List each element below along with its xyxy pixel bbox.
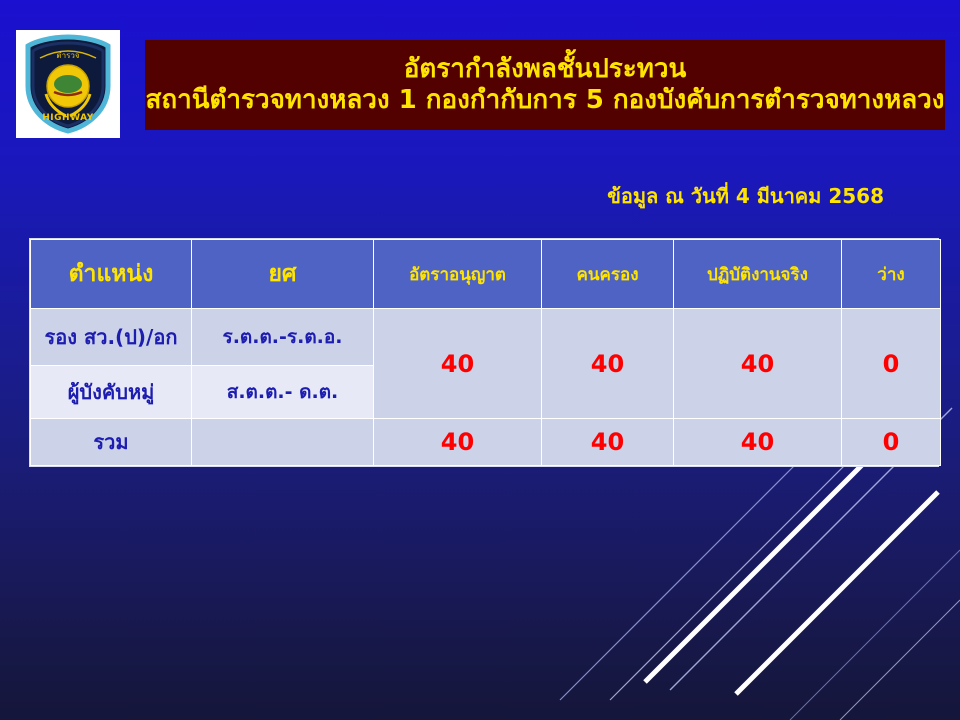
total-occupied-value: 40 — [542, 419, 674, 466]
column-header-rank: ยศ — [192, 240, 374, 309]
svg-text:ตำรวจ: ตำรวจ — [56, 51, 79, 60]
total-label: รวม — [31, 419, 192, 466]
column-header-authorized: อัตราอนุญาต — [374, 240, 542, 309]
title-line-1: อัตรากำลังพลชั้นประทวน — [404, 54, 686, 85]
merged-authorized-value: 40 — [374, 309, 542, 419]
column-header-actual: ปฏิบัติงานจริง — [674, 240, 842, 309]
highway-police-logo: ตำรวจ HIGHWAY — [16, 30, 120, 138]
column-header-position: ตำแหน่ง — [31, 240, 192, 309]
row-rank-2: ส.ต.ต.- ด.ต. — [192, 366, 374, 419]
merged-occupied-value: 40 — [542, 309, 674, 419]
row-position-1: รอง สว.(ป)/อก — [31, 309, 192, 366]
total-rank — [192, 419, 374, 466]
merged-actual-value: 40 — [674, 309, 842, 419]
badge-icon: ตำรวจ HIGHWAY — [20, 34, 116, 134]
total-authorized-value: 40 — [374, 419, 542, 466]
personnel-table: ตำแหน่ง ยศ อัตราอนุญาต คนครอง ปฏิบัติงาน… — [29, 238, 939, 467]
merged-vacant-value: 0 — [842, 309, 941, 419]
slide-canvas: ตำรวจ HIGHWAY อัตรากำลังพลชั้นประทวน สถา… — [0, 0, 960, 720]
row-rank-1: ร.ต.ต.-ร.ต.อ. — [192, 309, 374, 366]
table-total-row: รวม 40 40 40 0 — [31, 419, 941, 466]
row-position-2: ผู้บังคับหมู่ — [31, 366, 192, 419]
title-banner: อัตรากำลังพลชั้นประทวน สถานีตำรวจทางหลวง… — [145, 40, 945, 130]
title-line-2: สถานีตำรวจทางหลวง 1 กองกำกับการ 5 กองบัง… — [146, 85, 945, 116]
total-vacant-value: 0 — [842, 419, 941, 466]
table-row: รอง สว.(ป)/อก ร.ต.ต.-ร.ต.อ. 40 40 40 0 — [31, 309, 941, 366]
column-header-vacant: ว่าง — [842, 240, 941, 309]
column-header-occupied: คนครอง — [542, 240, 674, 309]
svg-text:HIGHWAY: HIGHWAY — [42, 113, 93, 123]
table-header-row: ตำแหน่ง ยศ อัตราอนุญาต คนครอง ปฏิบัติงาน… — [31, 240, 941, 309]
total-actual-value: 40 — [674, 419, 842, 466]
data-as-of-note: ข้อมูล ณ วันที่ 4 มีนาคม 2568 — [0, 180, 884, 212]
